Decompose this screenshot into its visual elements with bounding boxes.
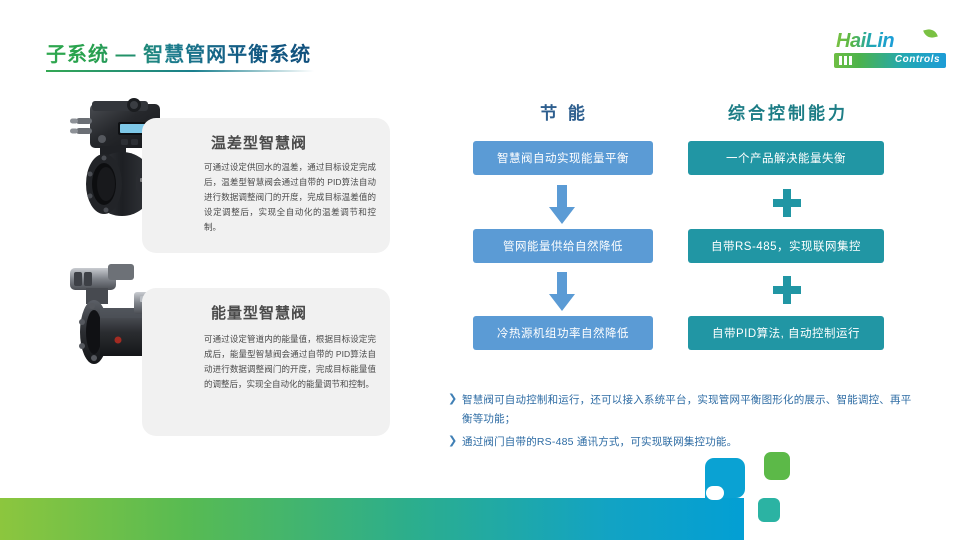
page-title: 子系统 — 智慧管网平衡系统 bbox=[46, 38, 311, 67]
flow-box-control-1[interactable]: 一个产品解决能量失衡 bbox=[688, 141, 884, 175]
logo-stripes-icon bbox=[839, 56, 852, 65]
flow-box-energy-2[interactable]: 管网能量供给自然降低 bbox=[473, 229, 653, 263]
slide-root: 子系统 — 智慧管网平衡系统 HaiLin Controls bbox=[0, 0, 960, 540]
bullet-text: 智慧阀可自动控制和运行，还可以接入系统平台，实现管网平衡图形化的展示、智能调控、… bbox=[462, 391, 918, 429]
bullet-list: ❯ 智慧阀可自动控制和运行，还可以接入系统平台，实现管网平衡图形化的展示、智能调… bbox=[448, 391, 918, 456]
footer-accent-notch bbox=[706, 486, 724, 500]
flow-box-energy-1[interactable]: 智慧阀自动实现能量平衡 bbox=[473, 141, 653, 175]
plus-icon bbox=[772, 275, 802, 305]
card-description: 可通过设定供回水的温差，通过目标设定完成后，温差型智慧阀会通过自带的 PID算法… bbox=[204, 160, 376, 235]
down-arrow-icon bbox=[548, 272, 576, 312]
card-description: 可通过设定管道内的能量值，根据目标设定完成后，能量型智慧阀会通过自带的 PID算… bbox=[204, 332, 376, 392]
down-arrow-icon bbox=[548, 185, 576, 225]
footer-gradient-bar bbox=[0, 498, 744, 540]
flow-box-control-3[interactable]: 自带PID算法, 自动控制运行 bbox=[688, 316, 884, 350]
column-heading-energy-saving: 节 能 bbox=[476, 99, 652, 124]
plus-icon bbox=[772, 188, 802, 218]
title-underline bbox=[46, 70, 314, 72]
chevron-right-icon: ❯ bbox=[448, 433, 462, 449]
logo-subtext: Controls bbox=[895, 54, 940, 65]
hailin-logo: HaiLin Controls bbox=[826, 30, 946, 74]
footer-accent-green bbox=[764, 452, 790, 480]
chevron-right-icon: ❯ bbox=[448, 391, 462, 407]
bullet-text: 通过阀门自带的RS-485 通讯方式，可实现联网集控功能。 bbox=[462, 433, 918, 452]
footer-accent-teal bbox=[758, 498, 780, 522]
list-item: ❯ 通过阀门自带的RS-485 通讯方式，可实现联网集控功能。 bbox=[448, 433, 918, 452]
card-title: 温差型智慧阀 bbox=[142, 132, 376, 153]
column-heading-integrated-control: 综合控制能力 bbox=[695, 99, 881, 124]
card-temperature-difference-valve: 温差型智慧阀 可通过设定供回水的温差，通过目标设定完成后，温差型智慧阀会通过自带… bbox=[142, 118, 390, 253]
card-energy-valve: 能量型智慧阀 可通过设定管道内的能量值，根据目标设定完成后，能量型智慧阀会通过自… bbox=[142, 288, 390, 436]
logo-wordmark: HaiLin bbox=[836, 30, 894, 53]
flow-box-energy-3[interactable]: 冷热源机组功率自然降低 bbox=[473, 316, 653, 350]
card-title: 能量型智慧阀 bbox=[142, 302, 376, 323]
list-item: ❯ 智慧阀可自动控制和运行，还可以接入系统平台，实现管网平衡图形化的展示、智能调… bbox=[448, 391, 918, 429]
leaf-icon bbox=[923, 28, 938, 40]
flow-box-control-2[interactable]: 自带RS-485，实现联网集控 bbox=[688, 229, 884, 263]
logo-subbar: Controls bbox=[834, 53, 946, 68]
